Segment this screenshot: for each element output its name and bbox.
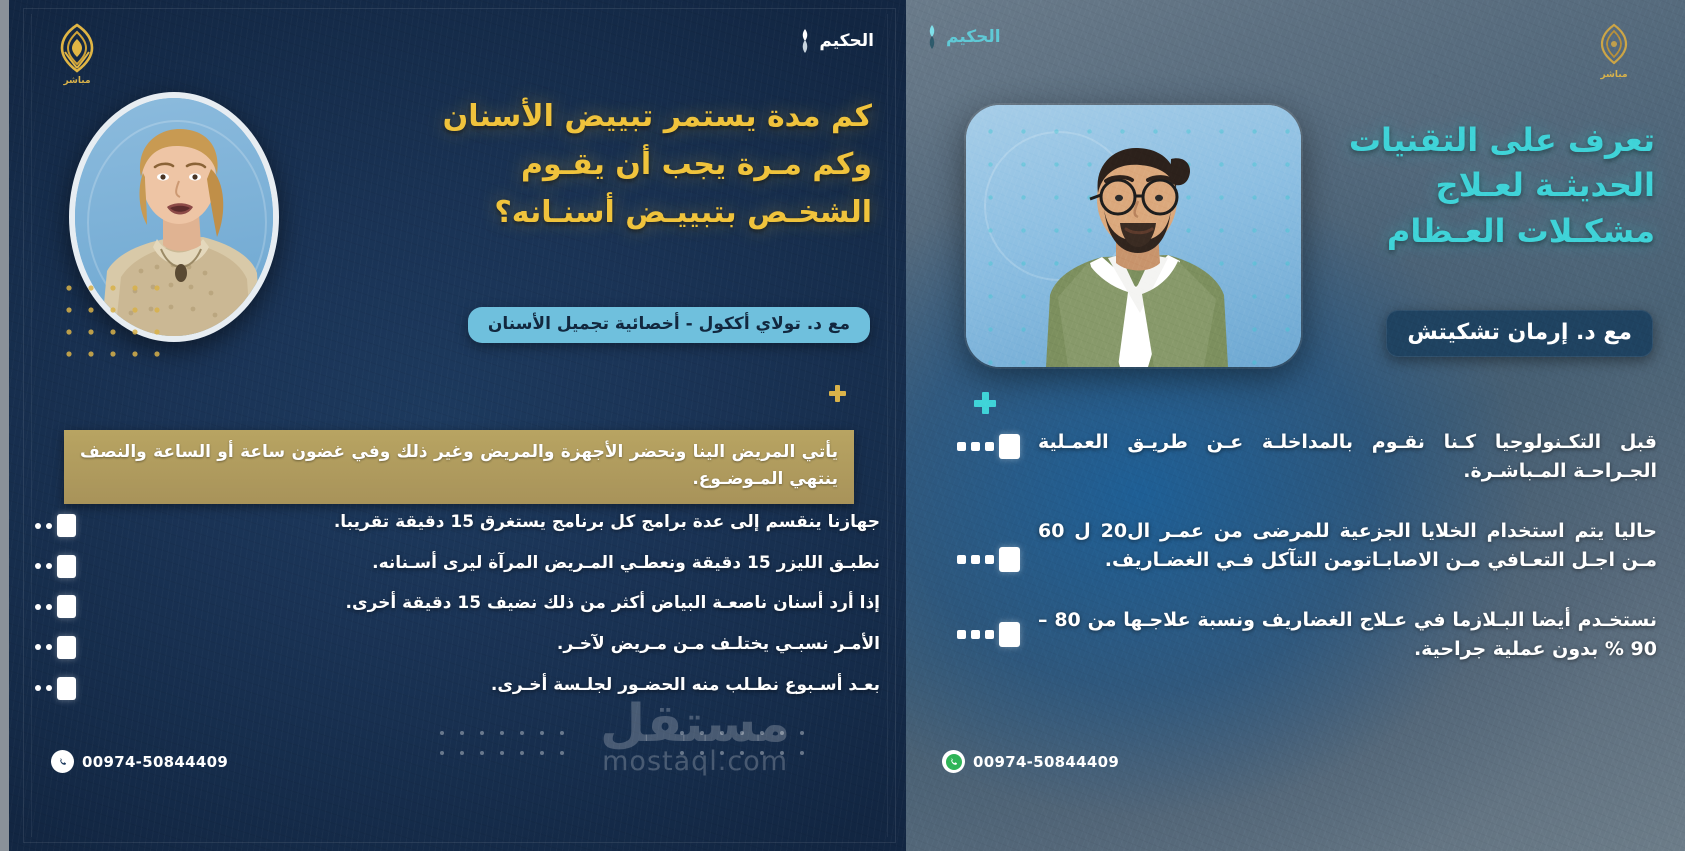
right-bullet-text-3: إذا أرد أسنان ناصعـة البياض أكثر من ذلك …	[80, 586, 880, 621]
left-bullet-text-1: قبل التكـنولوجيا كـنا نقـوم بالمداخلـة ع…	[1024, 420, 1657, 495]
list-item: بعـد أسـبوع نطـلب منه الحضـور لجلـسة أخـ…	[35, 668, 880, 703]
right-title-line-2: وكم مـرة يجب أن يقـوم	[372, 143, 872, 191]
list-item: قبل التكـنولوجيا كـنا نقـوم بالمداخلـة ع…	[957, 420, 1657, 495]
al-hakeem-logo-label: الحكيم	[819, 33, 874, 50]
left-bullet-list: قبل التكـنولوجيا كـنا نقـوم بالمداخلـة ع…	[957, 420, 1657, 673]
decorative-dot-row	[676, 727, 846, 763]
list-item: الأمـر نسبـي يختلـف مـن مـريض لآخـر.	[35, 627, 880, 662]
left-guest-name-band: مع د. إرمان تشكيتش	[1386, 310, 1653, 357]
list-item: نطبـق الليزر 15 دقيقة ونعطـي المـريض الم…	[35, 546, 880, 581]
right-card-panel: الحكيم مباشر	[0, 0, 906, 851]
al-jazeera-mark-icon	[51, 22, 103, 74]
list-item: جهازنا ينقسم إلى عدة برامج كل برنامج يست…	[35, 505, 880, 540]
left-title-line-2: الحديثـة لعـلاج	[1235, 163, 1655, 208]
plus-icon	[829, 385, 846, 402]
right-bullet-text-1: جهازنا ينقسم إلى عدة برامج كل برنامج يست…	[80, 505, 880, 540]
bullet-marker-icon	[35, 586, 76, 618]
al-jazeera-logo-icon[interactable]: مباشر	[51, 22, 103, 86]
guest-portrait-left	[1028, 137, 1243, 367]
guest-photo-oval	[69, 92, 279, 342]
al-jazeera-sub-label: مباشر	[1591, 70, 1637, 80]
right-contact-number: 00974-50844409	[82, 753, 228, 771]
right-bullet-text-5: بعـد أسـبوع نطـلب منه الحضـور لجلـسة أخـ…	[80, 668, 880, 703]
left-card-panel: الحكيم مباشر	[906, 0, 1685, 851]
list-item: حاليا يتم استخدام الخلايا الجزعية للمرضى…	[957, 509, 1657, 584]
bullet-marker-icon	[35, 505, 76, 537]
whatsapp-icon	[51, 750, 74, 773]
al-jazeera-mark-icon	[1591, 22, 1637, 68]
right-title-block: كم مدة يستمر تبييض الأسنان وكم مـرة يجب …	[372, 95, 872, 239]
whatsapp-icon	[942, 750, 965, 773]
decorative-dot-row	[436, 727, 606, 763]
al-hakeem-logo-icon[interactable]: الحكيم	[795, 28, 874, 54]
left-title-line-1: تعرف على التقنيات	[1235, 118, 1655, 163]
left-title-line-3: مشكـلات العـظام	[1235, 209, 1655, 254]
guest-portrait-right	[91, 121, 269, 336]
bullet-marker-icon	[957, 509, 1020, 572]
right-title-line-1: كم مدة يستمر تبييض الأسنان	[372, 95, 872, 143]
right-highlight-quote: يأتي المريض الينا ونحضر الأجهزة والمريض …	[64, 430, 854, 504]
al-jazeera-logo-icon[interactable]: مباشر	[1591, 22, 1637, 80]
al-hakeem-logo-label: الحكيم	[946, 29, 1001, 46]
right-bullet-text-4: الأمـر نسبـي يختلـف مـن مـريض لآخـر.	[80, 627, 880, 662]
list-item: إذا أرد أسنان ناصعـة البياض أكثر من ذلك …	[35, 586, 880, 621]
right-bullet-text-2: نطبـق الليزر 15 دقيقة ونعطـي المـريض الم…	[80, 546, 880, 581]
left-contact[interactable]: 00974-50844409	[942, 750, 1119, 773]
right-title-line-3: الشخـص بتبييـض أسنـانه؟	[372, 191, 872, 239]
poster-stage: الحكيم مباشر	[0, 0, 1685, 851]
left-bullet-text-3: نستخـدم أيضا البـلازما في عـلاج الغضاريف…	[1024, 598, 1657, 673]
left-bullet-text-2: حاليا يتم استخدام الخلايا الجزعية للمرضى…	[1024, 509, 1657, 584]
bullet-marker-icon	[957, 420, 1020, 459]
plus-icon	[974, 392, 996, 414]
bullet-marker-icon	[35, 668, 76, 700]
bullet-marker-icon	[35, 546, 76, 578]
bullet-marker-icon	[35, 627, 76, 659]
list-item: نستخـدم أيضا البـلازما في عـلاج الغضاريف…	[957, 598, 1657, 673]
al-jazeera-sub-label: مباشر	[51, 76, 103, 86]
hakeem-mark-icon	[795, 28, 815, 54]
hakeem-mark-icon	[922, 24, 942, 50]
right-guest-name-band: مع د. تولاي أككول - أخصائية تجميل الأسنا…	[468, 307, 870, 343]
left-contact-number: 00974-50844409	[973, 753, 1119, 771]
left-title-block: تعرف على التقنيات الحديثـة لعـلاج مشكـلا…	[1235, 118, 1655, 254]
al-hakeem-logo-icon[interactable]: الحكيم	[922, 24, 1001, 50]
right-bullet-list: جهازنا ينقسم إلى عدة برامج كل برنامج يست…	[35, 505, 880, 702]
bullet-marker-icon	[957, 598, 1020, 647]
right-contact[interactable]: 00974-50844409	[51, 750, 228, 773]
